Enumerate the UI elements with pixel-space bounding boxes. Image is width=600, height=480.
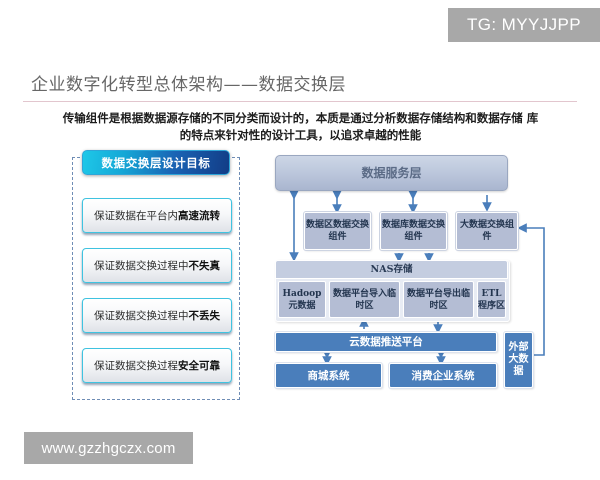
goals-panel-header-label: 数据交换层设计目标 xyxy=(102,155,211,171)
node-cloud-push-platform-label: 云数据推送平台 xyxy=(349,336,423,348)
node-nas-cell-4: ETL程序区 xyxy=(477,281,506,318)
top-right-watermark-text: TG: MYYJJPP xyxy=(467,15,581,35)
page-title: 企业数字化转型总体架构——数据交换层 xyxy=(31,70,346,95)
slide-canvas: TG: MYYJJPP 企业数字化转型总体架构——数据交换层 传输组件是根据数据… xyxy=(0,0,600,480)
goals-panel-header: 数据交换层设计目标 xyxy=(82,150,230,175)
description-line-1: 传输组件是根据数据源存储的不同分类而设计的，本质是通过分析数据存储结构和数据存储 xyxy=(63,111,523,125)
node-exchange-component-1: 数据区数据交换组件 xyxy=(304,212,371,250)
node-exchange-component-1-label: 数据区数据交换组件 xyxy=(305,219,370,243)
node-system-1-label: 商城系统 xyxy=(308,370,350,382)
node-system-2-label: 消费企业系统 xyxy=(412,370,475,382)
bottom-left-watermark-text: www.gzzhgczx.com xyxy=(41,440,175,457)
node-service-layer-label: 数据服务层 xyxy=(361,167,421,179)
node-nas-title-label: NAS存储 xyxy=(371,264,413,276)
goal-item-3-emphasis: 不丢失 xyxy=(189,308,221,323)
node-exchange-component-2: 数据库数据交换组件 xyxy=(380,212,447,250)
goal-item-3: 保证数据交换过程中不丢失 xyxy=(82,298,232,333)
goal-item-2-prefix: 保证数据交换过程中 xyxy=(94,258,189,273)
node-system-1: 商城系统 xyxy=(275,363,382,388)
node-exchange-component-2-label: 数据库数据交换组件 xyxy=(381,219,446,243)
bottom-left-watermark: www.gzzhgczx.com xyxy=(24,432,193,464)
goal-item-2-emphasis: 不失真 xyxy=(189,258,221,273)
goal-item-4: 保证数据交换过程安全可靠 xyxy=(82,348,232,383)
node-external-bigdata: 外部大数据 xyxy=(504,332,533,388)
node-nas-cell-1: Hadoop元数据 xyxy=(278,281,326,318)
architecture-diagram: 数据服务层 数据区数据交换组件 数据库数据交换组件 大数据交换组件 NAS存储 … xyxy=(272,155,572,405)
goal-item-1-prefix: 保证数据在平台内 xyxy=(94,208,178,223)
goal-item-1: 保证数据在平台内高速流转 xyxy=(82,198,232,233)
goal-item-4-prefix: 保证数据交换过程 xyxy=(94,358,178,373)
node-external-bigdata-label: 外部大数据 xyxy=(505,342,532,378)
top-right-watermark: TG: MYYJJPP xyxy=(448,8,600,42)
node-nas-title: NAS存储 xyxy=(275,260,508,279)
node-exchange-component-3-label: 大数据交换组件 xyxy=(457,219,517,243)
node-service-layer: 数据服务层 xyxy=(275,155,508,191)
description-text: 传输组件是根据数据源存储的不同分类而设计的，本质是通过分析数据存储结构和数据存储… xyxy=(58,110,543,144)
node-exchange-component-3: 大数据交换组件 xyxy=(456,212,518,250)
node-nas-cell-2-label: 数据平台导入临时区 xyxy=(330,288,399,312)
node-nas-cell-4-label: ETL程序区 xyxy=(478,288,505,312)
node-cloud-push-platform: 云数据推送平台 xyxy=(275,332,497,352)
title-divider xyxy=(23,101,577,102)
node-nas-cell-3-label: 数据平台导出临时区 xyxy=(404,288,473,312)
goal-item-1-emphasis: 高速流转 xyxy=(178,208,220,223)
node-nas-cell-3: 数据平台导出临时区 xyxy=(403,281,474,318)
goal-item-2: 保证数据交换过程中不失真 xyxy=(82,248,232,283)
goal-item-4-emphasis: 安全可靠 xyxy=(178,358,220,373)
node-system-2: 消费企业系统 xyxy=(389,363,497,388)
node-nas-cell-2: 数据平台导入临时区 xyxy=(329,281,400,318)
node-nas-cell-1-label: Hadoop元数据 xyxy=(279,288,325,312)
goal-item-3-prefix: 保证数据交换过程中 xyxy=(94,308,189,323)
